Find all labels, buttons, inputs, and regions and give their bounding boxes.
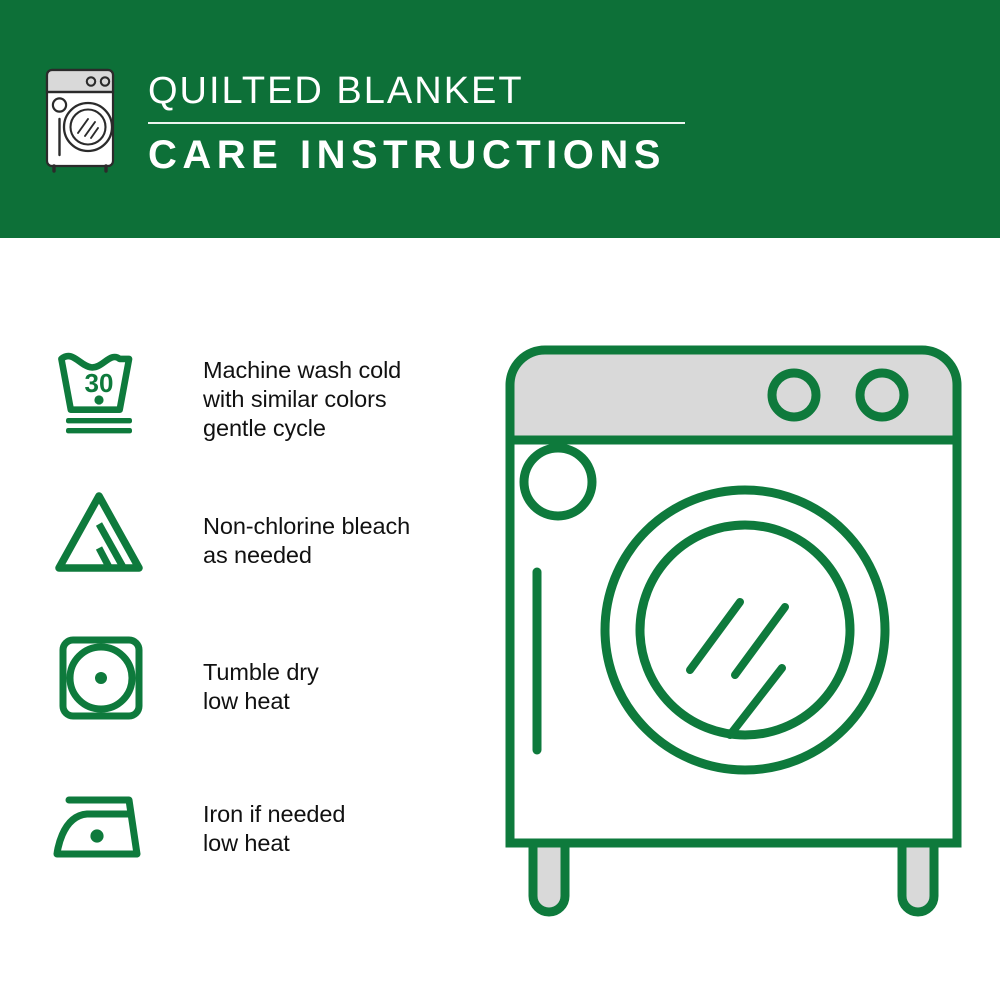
care-symbol-list: 30 Machine wash cold with similar colors… [47,340,477,924]
instruction-line: low heat [203,829,345,858]
washing-machine-icon [40,62,132,174]
page-subtitle: CARE INSTRUCTIONS [148,132,685,178]
instruction-text: Iron if needed low heat [203,778,345,858]
instruction-line: Iron if needed [203,800,345,829]
care-instructions-page: QUILTED BLANKET CARE INSTRUCTIONS 30 Mac… [0,0,1000,1000]
instruction-line: Tumble dry [203,658,319,687]
wash-temperature-value: 30 [85,368,114,398]
page-title: QUILTED BLANKET [148,68,685,114]
instruction-text: Machine wash cold with similar colors ge… [203,340,401,443]
instruction-text: Tumble dry low heat [203,632,319,716]
iron-low-heat-icon [47,778,157,874]
list-item: Tumble dry low heat [47,632,477,778]
instruction-line: with similar colors [203,385,401,414]
machine-leg [902,840,934,912]
machine-leg [533,840,565,912]
instruction-line: Machine wash cold [203,356,401,385]
instruction-line: low heat [203,687,319,716]
header-content: QUILTED BLANKET CARE INSTRUCTIONS [40,62,685,178]
front-load-washing-machine-illustration [490,330,980,930]
header-title-block: QUILTED BLANKET CARE INSTRUCTIONS [148,62,685,178]
header-banner: QUILTED BLANKET CARE INSTRUCTIONS [0,0,1000,238]
bleach-triangle-icon [47,486,157,582]
tumble-dry-low-icon [47,632,157,728]
list-item: Iron if needed low heat [47,778,477,924]
machine-body [510,440,957,843]
list-item: 30 Machine wash cold with similar colors… [47,340,477,486]
instruction-line: as needed [203,541,410,570]
control-panel [510,350,957,440]
instruction-line: gentle cycle [203,414,401,443]
instruction-line: Non-chlorine bleach [203,512,410,541]
list-item: Non-chlorine bleach as needed [47,486,477,632]
instruction-text: Non-chlorine bleach as needed [203,486,410,570]
title-divider [148,122,685,124]
wash-tub-30-icon: 30 [47,340,157,436]
